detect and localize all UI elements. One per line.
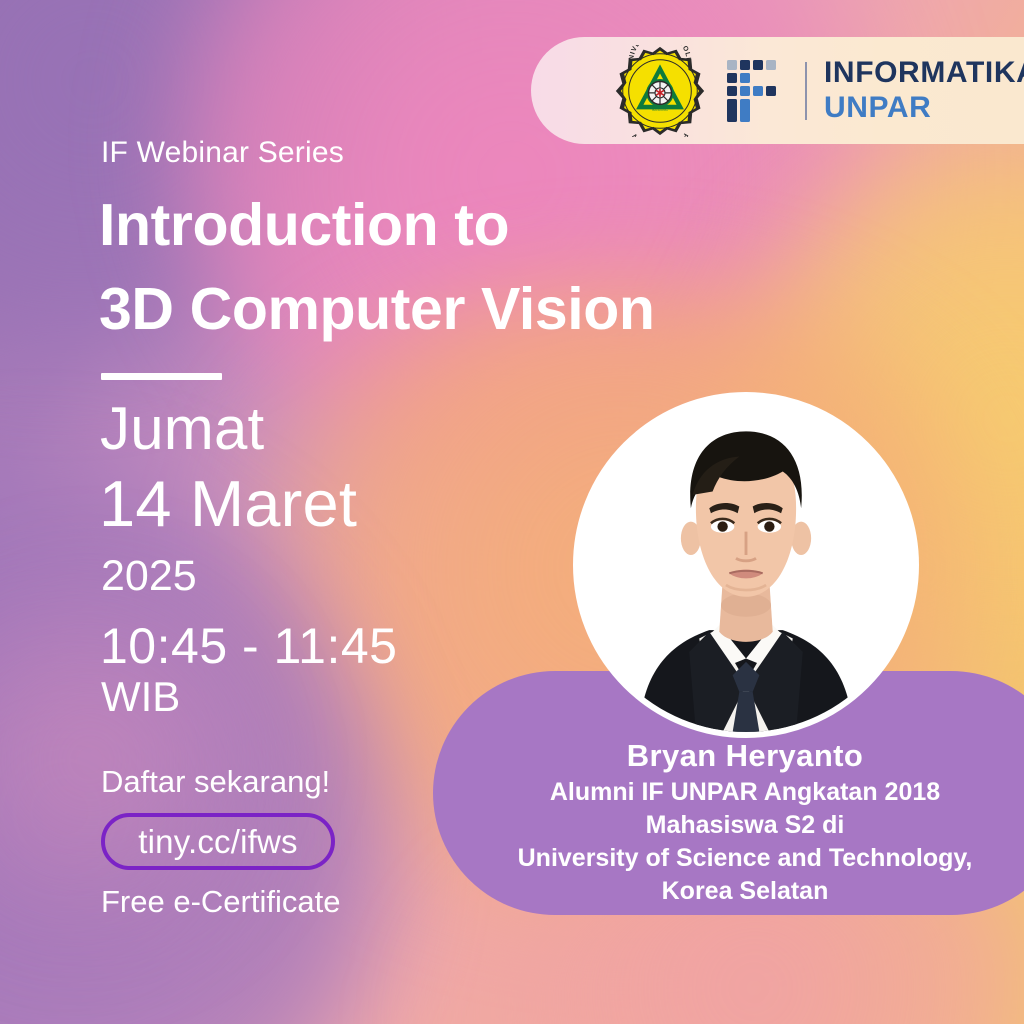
informatika-wordmark: INFORMATIKA UNPAR [824, 58, 1024, 123]
speaker-line-3: University of Science and Technology, [450, 842, 1024, 875]
schedule-time: 10:45 - 11:45 [100, 617, 397, 675]
wordmark-unpar: UNPAR [824, 93, 1024, 123]
svg-text:BANDUNG: BANDUNG [652, 108, 668, 112]
schedule-timezone: WIB [101, 673, 180, 721]
title-divider-rule [101, 373, 222, 380]
speaker-info: Bryan Heryanto Alumni IF UNPAR Angkatan … [450, 737, 1024, 908]
speaker-portrait [573, 392, 919, 738]
speaker-line-1: Alumni IF UNPAR Angkatan 2018 [450, 776, 1024, 809]
logo-divider [805, 62, 807, 120]
speaker-line-2: Mahasiswa S2 di [450, 809, 1024, 842]
speaker-line-4: Korea Selatan [450, 875, 1024, 908]
free-certificate-note: Free e-Certificate [101, 884, 340, 920]
page-title: Introduction to 3D Computer Vision [99, 184, 819, 352]
registration-link-button[interactable]: tiny.cc/ifws [101, 813, 335, 870]
unpar-seal-icon: UNIVERSITAS KATOLIK PARAHYANGAN BANDUNG [614, 45, 706, 137]
schedule-year: 2025 [101, 552, 197, 601]
logo-banner: UNIVERSITAS KATOLIK PARAHYANGAN BANDUNG [531, 37, 1024, 144]
title-line-1: Introduction to [99, 184, 819, 268]
kicker-text: IF Webinar Series [101, 136, 344, 170]
schedule-date: 14 Maret [99, 466, 357, 541]
cta-label: Daftar sekarang! [101, 764, 330, 800]
schedule-day: Jumat [100, 394, 264, 463]
registration-link-text: tiny.cc/ifws [138, 823, 297, 861]
webinar-poster: UNIVERSITAS KATOLIK PARAHYANGAN BANDUNG [0, 0, 1024, 1024]
title-line-2: 3D Computer Vision [99, 268, 819, 352]
wordmark-informatika: INFORMATIKA [824, 58, 1024, 88]
informatika-if-mark-icon [727, 60, 787, 122]
speaker-name: Bryan Heryanto [450, 737, 1024, 776]
